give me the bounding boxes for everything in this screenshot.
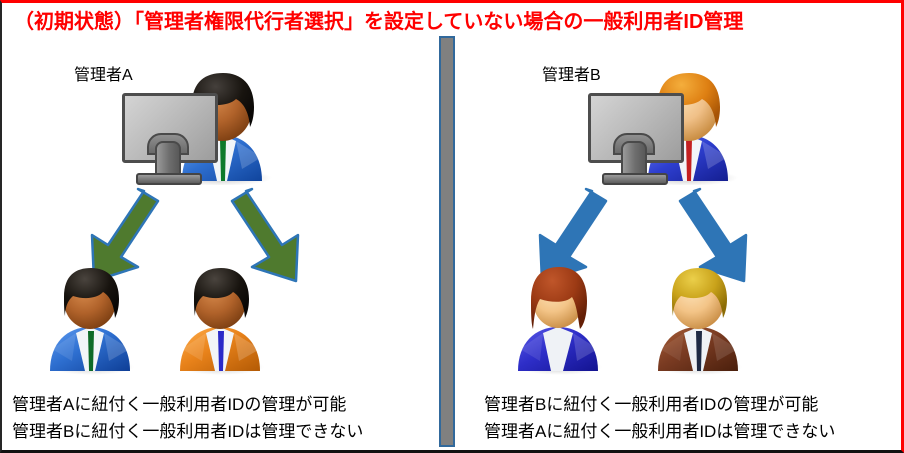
- admin-workstation-right: [582, 65, 762, 185]
- user-right-2: [650, 265, 746, 375]
- slide-canvas: （初期状態）「管理者権限代行者選択」を設定していない場合の一般利用者ID管理 管…: [0, 0, 904, 453]
- left-panel: 管理者A: [4, 43, 438, 443]
- caption-right-line-1: 管理者Bに紐付く一般利用者IDの管理が可能: [484, 391, 835, 418]
- user-left-2: [172, 265, 268, 375]
- caption-right: 管理者Bに紐付く一般利用者IDの管理が可能 管理者Aに紐付く一般利用者IDは管理…: [484, 391, 835, 445]
- caption-left-line-1: 管理者Aに紐付く一般利用者IDの管理が可能: [12, 391, 363, 418]
- monitor-right-icon: [588, 93, 692, 185]
- caption-right-line-2: 管理者Aに紐付く一般利用者IDは管理できない: [484, 418, 835, 445]
- monitor-left-icon: [122, 93, 226, 185]
- caption-left-line-2: 管理者Bに紐付く一般利用者IDは管理できない: [12, 418, 363, 445]
- admin-workstation-left: [116, 65, 296, 185]
- center-divider-bar: [439, 36, 455, 447]
- user-right-1: [510, 265, 606, 375]
- caption-left: 管理者Aに紐付く一般利用者IDの管理が可能 管理者Bに紐付く一般利用者IDは管理…: [12, 391, 363, 445]
- page-title: （初期状態）「管理者権限代行者選択」を設定していない場合の一般利用者ID管理: [14, 9, 743, 35]
- user-left-1: [42, 265, 138, 375]
- right-panel: 管理者B: [460, 43, 894, 443]
